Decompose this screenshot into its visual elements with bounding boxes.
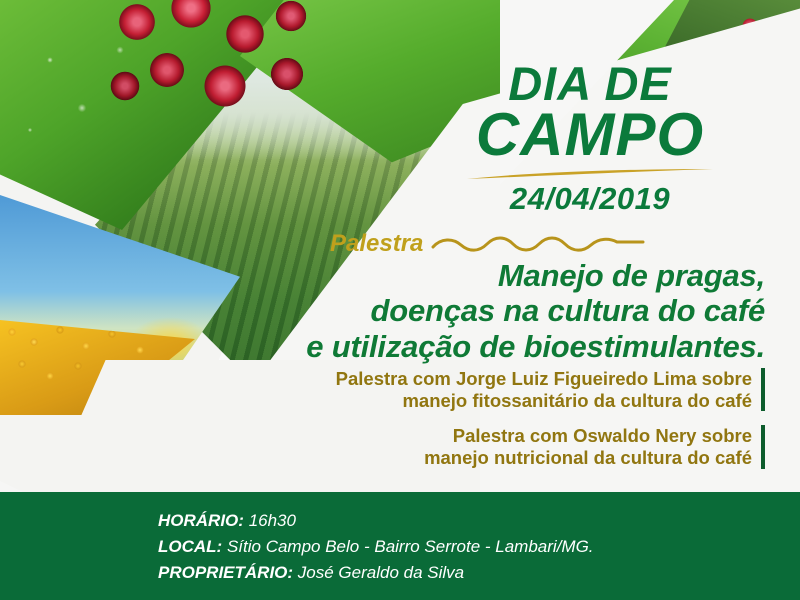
headline-block: Manejo de pragas, doenças na cultura do … [160, 258, 765, 364]
footer-value-horario: 16h30 [249, 511, 296, 530]
speaker-2-line-1: Palestra com Oswaldo Nery sobre [424, 425, 752, 447]
footer-label-proprietario: PROPRIETÁRIO: [158, 563, 293, 582]
gold-swoosh-icon [465, 168, 715, 180]
speaker-entry: Palestra com Jorge Luiz Figueiredo Lima … [120, 368, 765, 411]
headline-line-2: doenças na cultura do café [160, 293, 765, 328]
green-accent-bar [761, 368, 765, 411]
footer-value-proprietario: José Geraldo da Silva [298, 563, 464, 582]
event-date: 24/04/2019 [420, 181, 760, 217]
speaker-text: Palestra com Jorge Luiz Figueiredo Lima … [336, 368, 752, 411]
speaker-text: Palestra com Oswaldo Nery sobre manejo n… [424, 425, 752, 468]
headline-line-3: e utilização de bioestimulantes. [160, 329, 765, 364]
title-line-campo: CAMPO [420, 107, 760, 162]
palestra-label: Palestra [330, 230, 423, 258]
headline-line-1: Manejo de pragas, [160, 258, 765, 293]
footer-value-local: Sítio Campo Belo - Bairro Serrote - Lamb… [227, 537, 594, 556]
red-coffee-cherries-photo [95, 0, 395, 167]
footer-line-proprietario: PROPRIETÁRIO: José Geraldo da Silva [158, 560, 594, 586]
footer-bar: HORÁRIO: 16h30 LOCAL: Sítio Campo Belo -… [0, 492, 800, 600]
speakers-block: Palestra com Jorge Luiz Figueiredo Lima … [120, 368, 765, 483]
poster-title-block: DIA DE CAMPO 24/04/2019 [420, 62, 760, 217]
footer-label-local: LOCAL: [158, 537, 222, 556]
speaker-1-line-1: Palestra com Jorge Luiz Figueiredo Lima … [336, 368, 752, 390]
footer-label-horario: HORÁRIO: [158, 511, 244, 530]
flyer-poster: DIA DE CAMPO 24/04/2019 Palestra Manejo … [0, 0, 800, 600]
speaker-entry: Palestra com Oswaldo Nery sobre manejo n… [120, 425, 765, 468]
footer-details: HORÁRIO: 16h30 LOCAL: Sítio Campo Belo -… [158, 508, 594, 585]
green-accent-bar [761, 425, 765, 468]
gold-wavy-line-icon [431, 234, 646, 254]
footer-line-horario: HORÁRIO: 16h30 [158, 508, 594, 534]
title-line-dia-de: DIA DE [420, 62, 760, 105]
footer-line-local: LOCAL: Sítio Campo Belo - Bairro Serrote… [158, 534, 594, 560]
speaker-1-line-2: manejo fitossanitário da cultura do café [336, 390, 752, 412]
speaker-2-line-2: manejo nutricional da cultura do café [424, 447, 752, 469]
palestra-label-row: Palestra [330, 230, 770, 258]
